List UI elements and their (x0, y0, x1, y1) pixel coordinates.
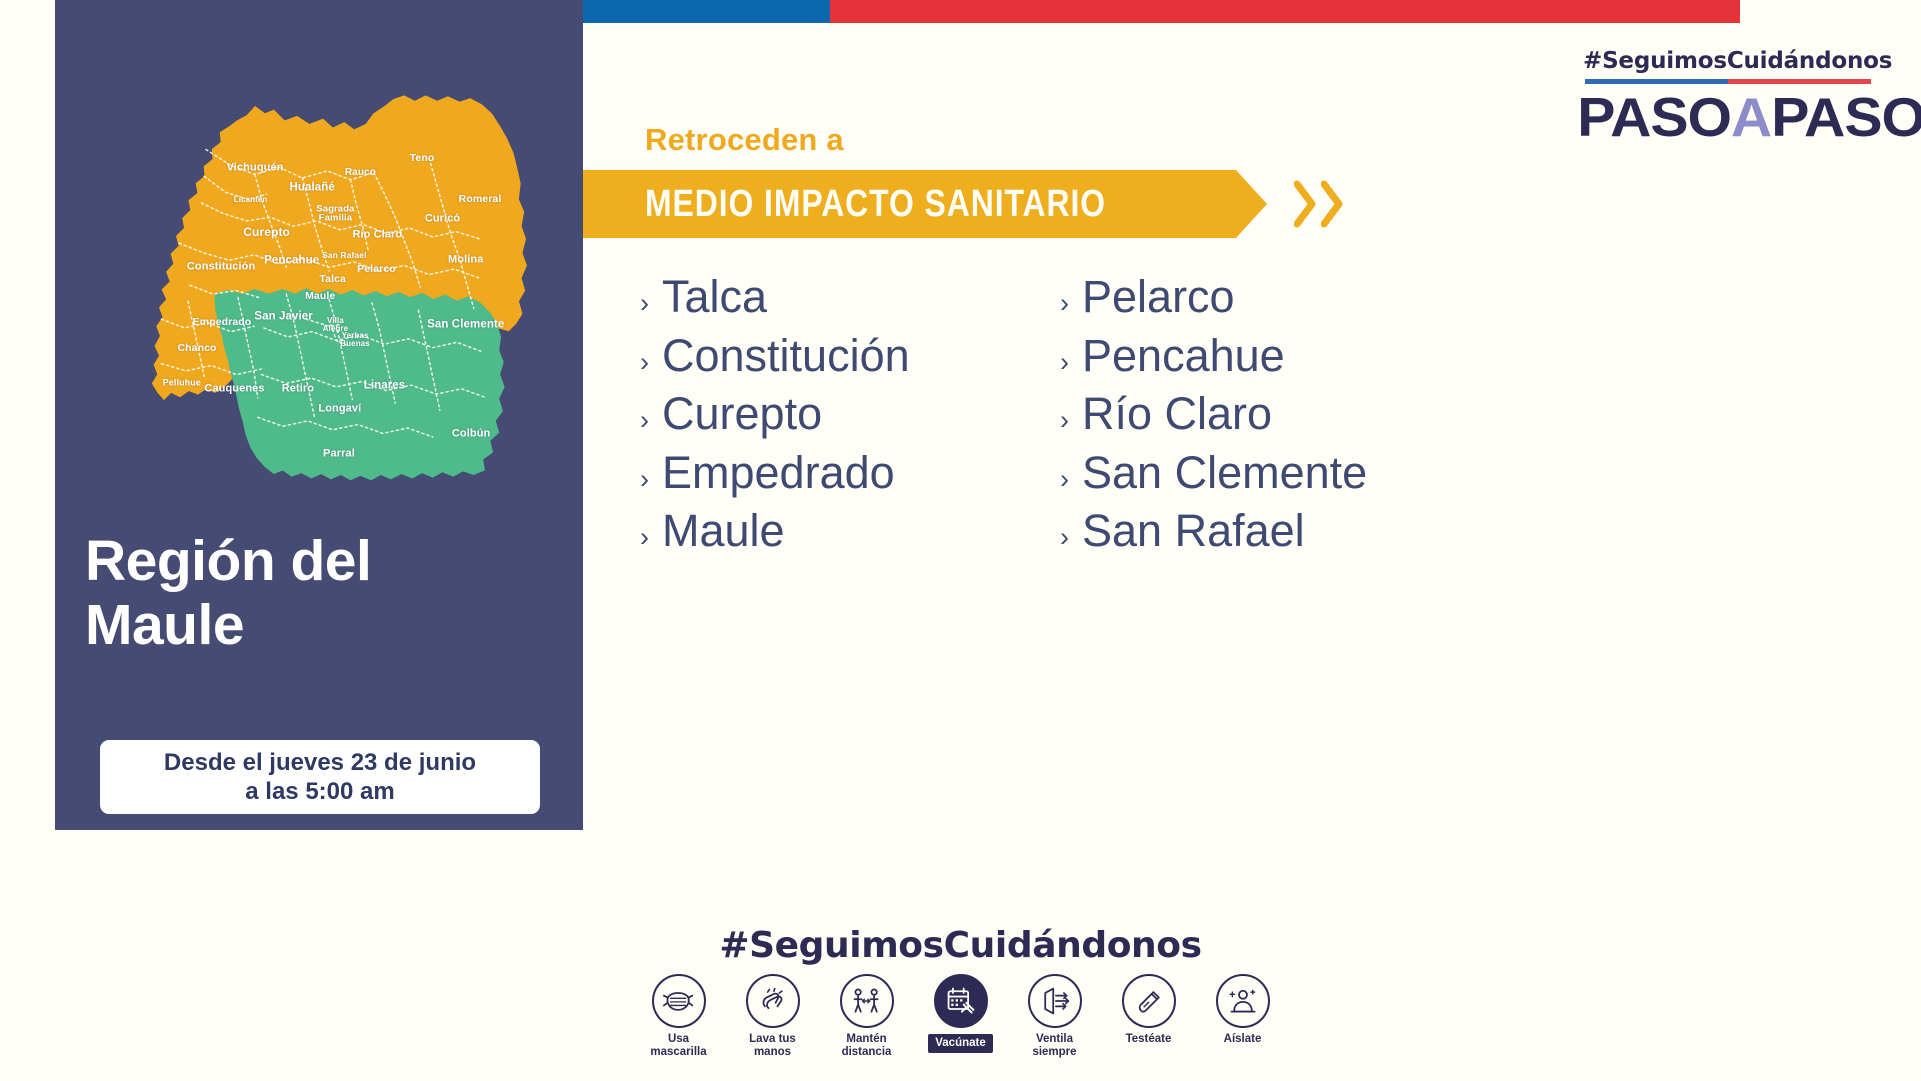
comuna-name: Curepto (662, 385, 822, 444)
map-label: Hualañé (289, 182, 334, 194)
prevention-measure-label: Testéate (1110, 1033, 1188, 1046)
map-label: Curepto (243, 226, 290, 238)
test-tube-icon-circle (1122, 974, 1176, 1028)
bullet-caret-icon: › (640, 520, 649, 555)
face-mask-icon (662, 985, 696, 1017)
isolate-person-icon-circle (1216, 974, 1270, 1028)
maule-region-map: VichuquénLicanténHualañéRaucoTenoRomeral… (72, 60, 572, 480)
map-label: Rauco (345, 168, 376, 178)
map-label: Cauquenes (204, 383, 264, 394)
bullet-caret-icon: › (1060, 403, 1069, 438)
page-title: Región del Maule (85, 530, 515, 658)
map-label: Vichuquén (227, 163, 284, 174)
map-label: Colbún (452, 429, 490, 440)
list-item: › Pencahue (1060, 327, 1480, 386)
prevention-measure-label: Aíslate (1204, 1033, 1282, 1046)
region-title-line-2: Maule (85, 594, 515, 658)
social-distance-icon-circle (840, 974, 894, 1028)
list-item: › Empedrado (640, 444, 1060, 503)
prevention-measure-item[interactable]: Mantén distancia (828, 974, 906, 1059)
map-label: Sagrada Familia (316, 204, 354, 223)
comuna-name: Constitución (662, 327, 910, 386)
map-label: Longaví (318, 403, 361, 414)
map-label: Pelluhue (163, 378, 201, 387)
comunas-column-2: › Pelarco › Pencahue › Río Claro › San C… (1060, 268, 1480, 561)
bullet-caret-icon: › (1060, 345, 1069, 380)
list-item: › Curepto (640, 385, 1060, 444)
ventilation-icon-circle (1028, 974, 1082, 1028)
list-item: › Maule (640, 502, 1060, 561)
list-item: › Constitución (640, 327, 1060, 386)
map-label-layer: VichuquénLicanténHualañéRaucoTenoRomeral… (72, 60, 572, 480)
logo-word-right: PASO (1771, 86, 1921, 148)
phase-banner: MEDIO IMPACTO SANITARIO (583, 170, 1236, 238)
vaccine-calendar-icon (944, 985, 978, 1017)
vaccine-calendar-icon-circle (934, 974, 988, 1028)
logo-word-left: PASO (1577, 86, 1731, 148)
comuna-name: Río Claro (1082, 385, 1272, 444)
prevention-measure-item[interactable]: Aíslate (1204, 974, 1282, 1046)
logo-divider (1585, 79, 1871, 84)
map-label: Río Claro (352, 230, 402, 241)
map-label: San Javier (254, 312, 313, 324)
phase-banner-label: MEDIO IMPACTO SANITARIO (645, 183, 1106, 226)
effective-date-badge: Desde el jueves 23 de junio a las 5:00 a… (100, 740, 540, 814)
bullet-caret-icon: › (640, 462, 649, 497)
list-item: › Talca (640, 268, 1060, 327)
ventilation-icon (1038, 985, 1072, 1017)
prevention-measures-row: Usa mascarillaLava tus manosMantén dista… (0, 974, 1921, 1059)
comuna-name: Empedrado (662, 444, 895, 503)
map-label: Villa Alegre (323, 317, 349, 333)
bullet-caret-icon: › (640, 403, 649, 438)
logo-hashtag: #SeguimosCuidándonos (1583, 48, 1873, 74)
logo-divider-red (1728, 79, 1871, 84)
prevention-measure-label: Usa mascarilla (640, 1033, 718, 1059)
map-label: Linares (364, 380, 406, 392)
social-distance-icon (850, 985, 884, 1017)
list-item: › San Rafael (1060, 502, 1480, 561)
comuna-name: Pencahue (1082, 327, 1285, 386)
isolate-person-icon (1226, 985, 1260, 1017)
chevron-right-icon (1294, 179, 1316, 229)
paso-a-paso-logo: #SeguimosCuidándonos PASOAPASO (1583, 48, 1873, 145)
comunas-list: › Talca › Constitución › Curepto › Emped… (640, 268, 1480, 561)
comuna-name: San Clemente (1082, 444, 1367, 503)
map-label: Parral (323, 449, 355, 460)
map-label: Talca (319, 274, 346, 285)
comuna-name: San Rafael (1082, 502, 1305, 561)
map-label: Romeral (459, 194, 502, 205)
prevention-measure-item[interactable]: Lava tus manos (734, 974, 812, 1059)
list-item: › San Clemente (1060, 444, 1480, 503)
face-mask-icon-circle (652, 974, 706, 1028)
prevention-measure-item[interactable]: Usa mascarilla (640, 974, 718, 1059)
bullet-caret-icon: › (640, 286, 649, 321)
map-label: Curicó (425, 214, 460, 225)
map-label: Pencahue (264, 255, 319, 267)
map-label: Pelarco (357, 264, 396, 275)
map-label: Molina (448, 255, 483, 266)
test-tube-icon (1132, 985, 1166, 1017)
comuna-name: Maule (662, 502, 785, 561)
prevention-measure-item[interactable]: Vacúnate (922, 974, 1000, 1053)
map-label: Yerbas Buenas (340, 332, 370, 348)
chevron-right-icon-2 (1321, 179, 1343, 229)
map-label: Empedrado (193, 317, 252, 328)
map-label: Licantén (234, 196, 268, 204)
map-label: Maule (305, 291, 335, 302)
bullet-caret-icon: › (1060, 520, 1069, 555)
phase-banner-row: MEDIO IMPACTO SANITARIO (583, 170, 1343, 238)
prevention-measure-label: Vacúnate (928, 1034, 993, 1053)
kicker-label: Retroceden a (645, 122, 844, 158)
logo-divider-blue (1585, 79, 1728, 84)
washing-hands-icon-circle (746, 974, 800, 1028)
map-label: Constitución (187, 262, 255, 273)
list-item: › Río Claro (1060, 385, 1480, 444)
map-label: Chanco (177, 342, 216, 353)
prevention-measure-label: Mantén distancia (828, 1033, 906, 1059)
map-label: Teno (410, 153, 435, 164)
infographic-canvas: VichuquénLicanténHualañéRaucoTenoRomeral… (0, 0, 1921, 1081)
list-item: › Pelarco (1060, 268, 1480, 327)
prevention-measure-item[interactable]: Testéate (1110, 974, 1188, 1046)
logo-word-mid: A (1731, 86, 1771, 148)
map-label: San Rafael (322, 251, 366, 260)
comuna-name: Pelarco (1082, 268, 1235, 327)
effective-date-text: Desde el jueves 23 de junio a las 5:00 a… (164, 748, 476, 807)
prevention-measure-label: Lava tus manos (734, 1033, 812, 1059)
logo-wordmark: PASOAPASO (1577, 90, 1879, 145)
washing-hands-icon (756, 985, 790, 1017)
bullet-caret-icon: › (1060, 462, 1069, 497)
prevention-measure-item[interactable]: Ventila siempre (1016, 974, 1094, 1059)
region-title-line-1: Región del (85, 530, 515, 594)
bullet-caret-icon: › (640, 345, 649, 380)
comunas-column-1: › Talca › Constitución › Curepto › Emped… (640, 268, 1060, 561)
footer-campaign: #SeguimosCuidándonos Usa mascarillaLava … (0, 925, 1921, 1059)
flag-bar-red-segment (830, 0, 1740, 23)
map-label: San Clemente (427, 320, 504, 332)
prevention-measure-label: Ventila siempre (1016, 1033, 1094, 1059)
banner-chevrons (1294, 170, 1343, 238)
comuna-name: Talca (662, 268, 767, 327)
map-label: Retiro (282, 383, 314, 394)
bullet-caret-icon: › (1060, 286, 1069, 321)
footer-hashtag: #SeguimosCuidándonos (0, 925, 1921, 966)
